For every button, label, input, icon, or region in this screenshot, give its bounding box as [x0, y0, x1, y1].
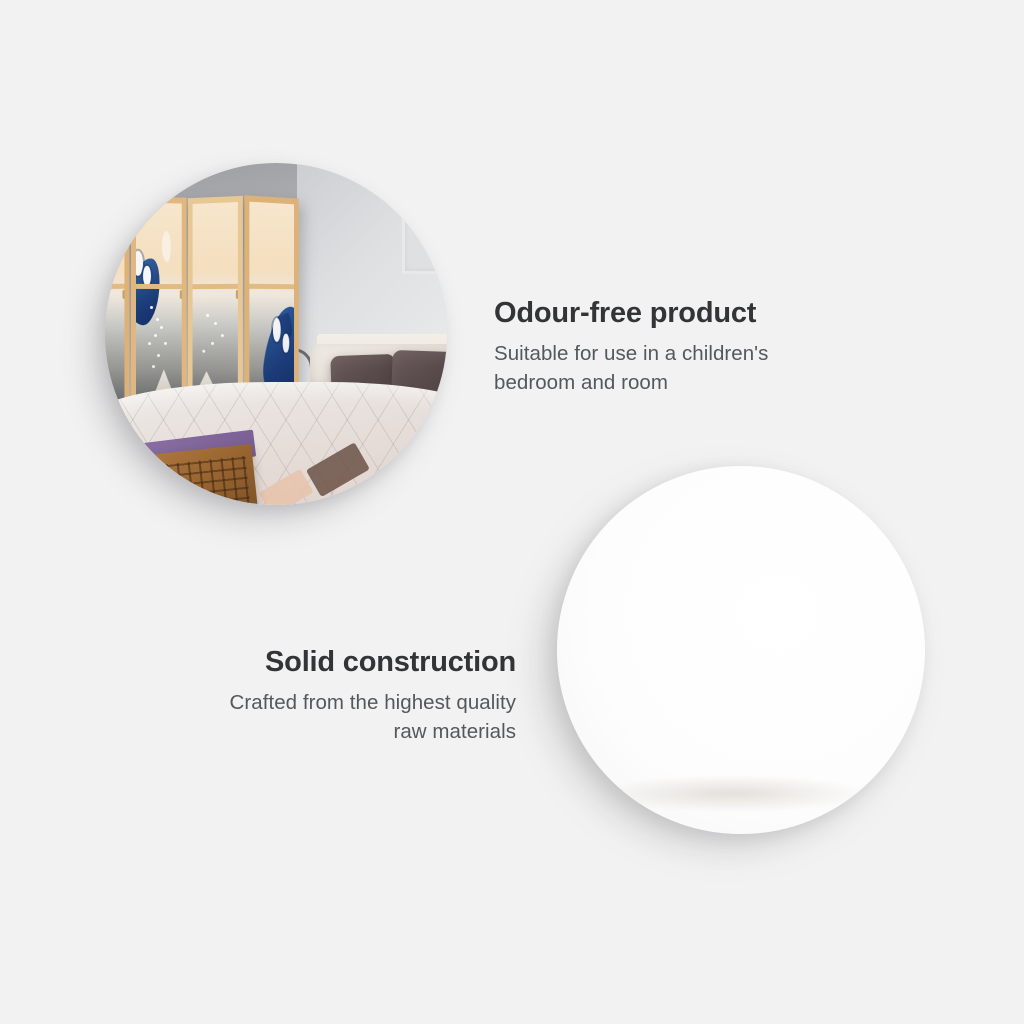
divider-panel-2 [131, 196, 187, 410]
timber-contact-shadow [601, 775, 866, 812]
feature-subtitle-odour-free-line2: bedroom and room [494, 368, 894, 397]
panel-glass-sheen [193, 202, 239, 402]
feature-title-odour-free: Odour-free product [494, 296, 894, 330]
bedroom-scene [105, 163, 447, 505]
divider-hinge [123, 290, 127, 299]
feature-text-odour-free: Odour-free product Suitable for use in a… [494, 296, 894, 397]
panel-glass-sheen [136, 203, 182, 402]
infographic-canvas: Odour-free product Suitable for use in a… [0, 0, 1024, 1024]
divider-panel-4 [244, 195, 299, 411]
circle-clip [557, 466, 925, 834]
circle-clip [105, 163, 447, 505]
folding-room-divider [105, 197, 300, 409]
divider-hinge [180, 290, 184, 299]
feature-image-solid-construction [557, 466, 925, 834]
feature-title-solid-construction: Solid construction [116, 645, 516, 679]
timber-scene [557, 466, 925, 834]
wall-picture-frame [402, 218, 445, 274]
panel-glass-sheen [249, 202, 294, 403]
feature-subtitle-solid-construction-line1: Crafted from the highest quality [116, 688, 516, 717]
feature-text-solid-construction: Solid construction Crafted from the high… [116, 645, 516, 746]
feature-subtitle-solid-construction-line2: raw materials [116, 717, 516, 746]
feature-subtitle-odour-free-line1: Suitable for use in a children's [494, 339, 894, 368]
panel-glass-sheen [105, 202, 125, 403]
divider-panel-3 [188, 196, 244, 411]
divider-panel-1 [105, 195, 130, 411]
woven-nightstand [136, 444, 259, 505]
divider-hinge [236, 290, 240, 299]
feature-image-odour-free [105, 163, 447, 505]
